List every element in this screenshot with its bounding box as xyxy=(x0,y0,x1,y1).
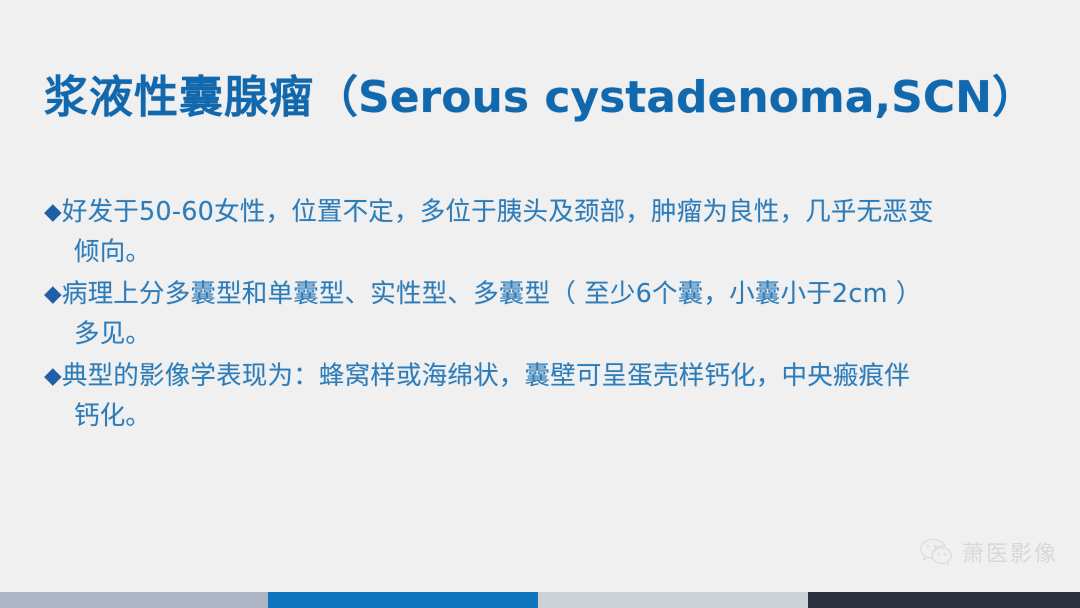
segment-blue xyxy=(268,592,538,608)
page-title-latin: （Serous cystadenoma,SCN） xyxy=(314,72,1036,123)
list-item-line-1: 病理上分多囊型和单囊型、实性型、多囊型（ 至少6个囊，小囊小于2cm ） xyxy=(62,279,922,309)
page-title-cjk: 浆液性囊腺瘤 xyxy=(44,72,314,123)
diamond-bullet-icon: ◆ xyxy=(44,192,62,232)
list-item-line-1: 好发于50-60女性，位置不定，多位于胰头及颈部，肿瘤为良性，几乎无恶变 xyxy=(62,197,934,227)
diamond-bullet-icon: ◆ xyxy=(44,356,62,396)
slide-title-block: 浆液性囊腺瘤（Serous cystadenoma,SCN） xyxy=(0,44,1080,152)
segment-light-gray xyxy=(538,592,808,608)
diamond-bullet-icon: ◆ xyxy=(44,274,62,314)
list-item-line-2: 多见。 xyxy=(44,314,1044,354)
watermark: 萧医影像 xyxy=(919,536,1058,568)
list-item: ◆病理上分多囊型和单囊型、实性型、多囊型（ 至少6个囊，小囊小于2cm ） 多见… xyxy=(44,274,1044,354)
presentation-slide: 浆液性囊腺瘤（Serous cystadenoma,SCN） ◆好发于50-60… xyxy=(0,0,1080,608)
list-item: ◆好发于50-60女性，位置不定，多位于胰头及颈部，肿瘤为良性，几乎无恶变 倾向… xyxy=(44,192,1044,272)
wechat-icon xyxy=(919,537,953,567)
segment-dark-navy xyxy=(808,592,1080,608)
list-item: ◆典型的影像学表现为：蜂窝样或海绵状，囊壁可呈蛋壳样钙化，中央瘢痕伴 钙化。 xyxy=(44,356,1044,436)
segment-gray-blue xyxy=(0,592,268,608)
list-item-line-2: 倾向。 xyxy=(44,232,1044,272)
list-item-line-1: 典型的影像学表现为：蜂窝样或海绵状，囊壁可呈蛋壳样钙化，中央瘢痕伴 xyxy=(62,361,910,391)
watermark-label: 萧医影像 xyxy=(962,536,1058,568)
page-title: 浆液性囊腺瘤（Serous cystadenoma,SCN） xyxy=(44,73,1036,122)
bottom-color-bar xyxy=(0,592,1080,608)
bullet-list: ◆好发于50-60女性，位置不定，多位于胰头及颈部，肿瘤为良性，几乎无恶变 倾向… xyxy=(44,192,1044,438)
list-item-line-2: 钙化。 xyxy=(44,396,1044,436)
